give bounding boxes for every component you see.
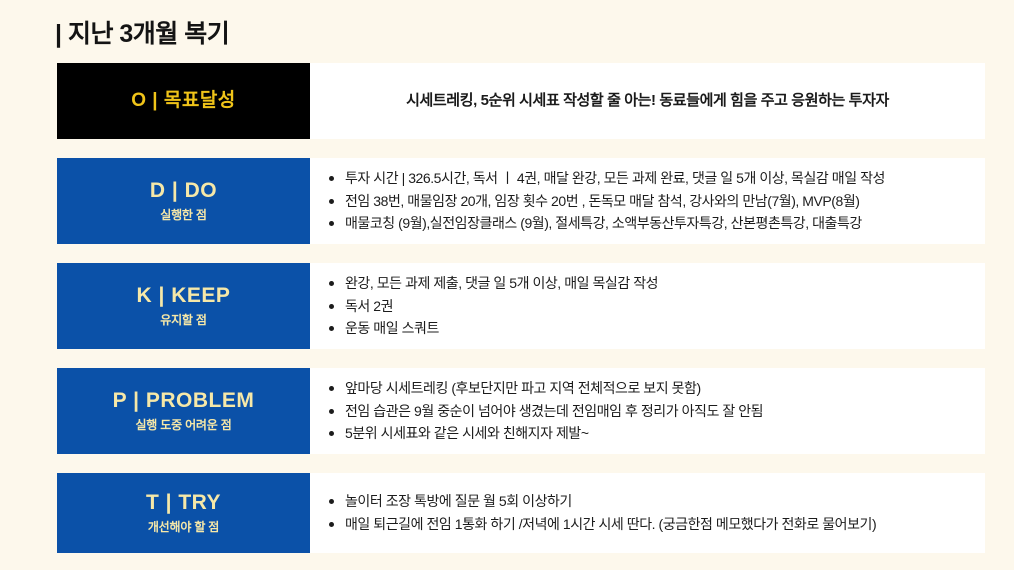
list-item: 5분위 시세표와 같은 시세와 친해지자 제발~ xyxy=(326,422,971,445)
row-label-do: D | DO 실행한 점 xyxy=(57,158,310,244)
keep-bullet-list: 완강, 모든 과제 제출, 댓글 일 5개 이상, 매일 목실감 작성 독서 2… xyxy=(326,272,971,340)
row-label-problem-main: P | PROBLEM xyxy=(113,389,255,413)
row-label-keep-main: K | KEEP xyxy=(137,284,231,308)
list-item: 완강, 모든 과제 제출, 댓글 일 5개 이상, 매일 목실감 작성 xyxy=(326,272,971,295)
row-keep: K | KEEP 유지할 점 완강, 모든 과제 제출, 댓글 일 5개 이상,… xyxy=(57,263,985,349)
row-label-try-main: T | TRY xyxy=(146,491,221,515)
do-bullet-list: 투자 시간 | 326.5시간, 독서 ㅣ 4권, 매달 완강, 모든 과제 완… xyxy=(326,167,971,235)
retrospective-rows: O | 목표달성 시세트레킹, 5순위 시세표 작성할 줄 아는! 동료들에게 … xyxy=(57,63,985,553)
row-label-keep-sub: 유지할 점 xyxy=(160,311,207,328)
row-do: D | DO 실행한 점 투자 시간 | 326.5시간, 독서 ㅣ 4권, 매… xyxy=(57,158,985,244)
goal-headline-text: 시세트레킹, 5순위 시세표 작성할 줄 아는! 동료들에게 힘을 주고 응원하… xyxy=(406,91,889,111)
row-label-do-sub: 실행한 점 xyxy=(160,206,207,223)
row-label-problem-sub: 실행 도중 어려운 점 xyxy=(135,416,231,433)
row-body-do: 투자 시간 | 326.5시간, 독서 ㅣ 4권, 매달 완강, 모든 과제 완… xyxy=(310,158,985,244)
list-item: 전임 습관은 9월 중순이 넘어야 생겼는데 전임매임 후 정리가 아직도 잘 … xyxy=(326,400,971,423)
row-try: T | TRY 개선해야 할 점 놀이터 조장 톡방에 질문 월 5회 이상하기… xyxy=(57,473,985,553)
list-item: 전임 38번, 매물임장 20개, 임장 횟수 20번 , 돈독모 매달 참석,… xyxy=(326,190,971,213)
page-title: | 지난 3개월 복기 xyxy=(55,14,229,50)
retrospective-slide: | 지난 3개월 복기 O | 목표달성 시세트레킹, 5순위 시세표 작성할 … xyxy=(0,0,1014,570)
row-label-keep: K | KEEP 유지할 점 xyxy=(57,263,310,349)
row-goal: O | 목표달성 시세트레킹, 5순위 시세표 작성할 줄 아는! 동료들에게 … xyxy=(57,63,985,139)
list-item: 놀이터 조장 톡방에 질문 월 5회 이상하기 xyxy=(326,490,971,513)
row-label-do-main: D | DO xyxy=(150,179,217,203)
row-problem: P | PROBLEM 실행 도중 어려운 점 앞마당 시세트레킹 (후보단지만… xyxy=(57,368,985,454)
row-body-try: 놀이터 조장 톡방에 질문 월 5회 이상하기 매일 퇴근길에 전임 1통화 하… xyxy=(310,473,985,553)
row-label-goal: O | 목표달성 xyxy=(57,63,310,139)
list-item: 매일 퇴근길에 전임 1통화 하기 /저녁에 1시간 시세 딴다. (궁금한점 … xyxy=(326,513,971,536)
row-label-try-sub: 개선해야 할 점 xyxy=(148,518,219,535)
list-item: 앞마당 시세트레킹 (후보단지만 파고 지역 전체적으로 보지 못함) xyxy=(326,377,971,400)
list-item: 매물코칭 (9월),실전임장클래스 (9월), 절세특강, 소액부동산투자특강,… xyxy=(326,212,971,235)
list-item: 운동 매일 스쿼트 xyxy=(326,317,971,340)
row-body-keep: 완강, 모든 과제 제출, 댓글 일 5개 이상, 매일 목실감 작성 독서 2… xyxy=(310,263,985,349)
row-body-problem: 앞마당 시세트레킹 (후보단지만 파고 지역 전체적으로 보지 못함) 전임 습… xyxy=(310,368,985,454)
row-label-problem: P | PROBLEM 실행 도중 어려운 점 xyxy=(57,368,310,454)
row-body-goal: 시세트레킹, 5순위 시세표 작성할 줄 아는! 동료들에게 힘을 주고 응원하… xyxy=(310,63,985,139)
row-label-goal-main: O | 목표달성 xyxy=(131,90,236,112)
row-label-try: T | TRY 개선해야 할 점 xyxy=(57,473,310,553)
list-item: 독서 2권 xyxy=(326,295,971,318)
try-bullet-list: 놀이터 조장 톡방에 질문 월 5회 이상하기 매일 퇴근길에 전임 1통화 하… xyxy=(326,490,971,535)
problem-bullet-list: 앞마당 시세트레킹 (후보단지만 파고 지역 전체적으로 보지 못함) 전임 습… xyxy=(326,377,971,445)
list-item: 투자 시간 | 326.5시간, 독서 ㅣ 4권, 매달 완강, 모든 과제 완… xyxy=(326,167,971,190)
